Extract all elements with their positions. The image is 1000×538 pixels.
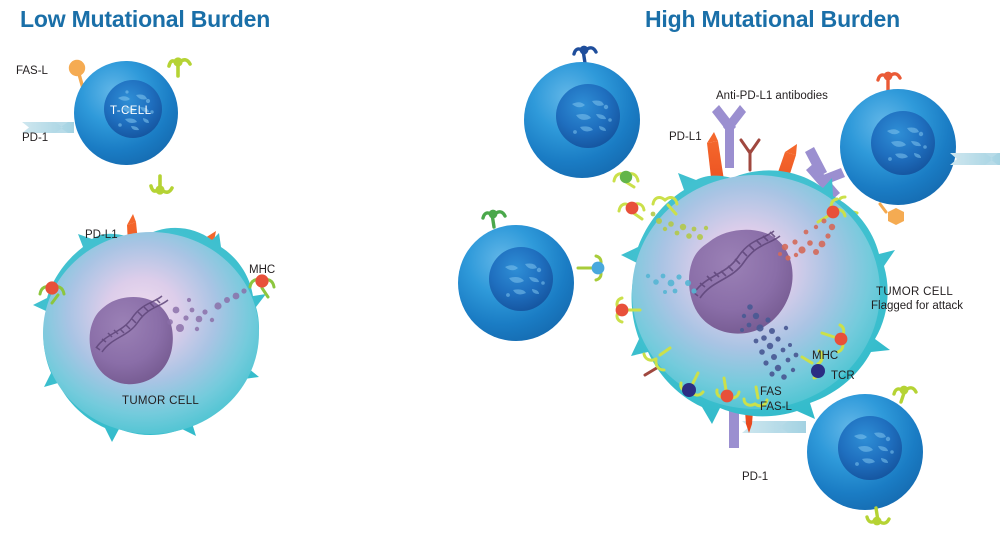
- tcr-icon: [574, 46, 596, 63]
- high-tumor-cell-label: TUMOR CELL: [876, 285, 953, 299]
- fas-l-icon: [880, 204, 904, 225]
- small-antibody-icon: [741, 140, 759, 170]
- low-tumor-cell-label: TUMOR CELL: [122, 394, 199, 408]
- high-t-cell-middle-left: [458, 210, 604, 341]
- high-fas-l-label: FAS-L: [760, 400, 792, 414]
- tcr-icon: [878, 72, 900, 90]
- illustration-layer: [0, 0, 1000, 538]
- diagram-canvas: Low Mutational Burden High Mutational Bu…: [0, 0, 1000, 538]
- low-fas-l-label: FAS-L: [16, 64, 48, 78]
- tcr-icon: [151, 176, 172, 195]
- low-burden-panel-title: Low Mutational Burden: [20, 6, 270, 33]
- tcr-icon: [169, 57, 190, 76]
- tcr-icon: [867, 508, 889, 525]
- high-anti-pd-l1-antibodies-label: Anti-PD-L1 antibodies: [716, 89, 828, 103]
- mhc-icon: [250, 274, 274, 297]
- tcr-icon: [483, 210, 505, 227]
- high-fas-label: FAS: [760, 385, 782, 399]
- high-burden-panel-title: High Mutational Burden: [645, 6, 900, 33]
- low-pd-l1-label: PD-L1: [85, 228, 118, 242]
- mhc-icon: [578, 256, 604, 280]
- low-pd-1-label: PD-1: [22, 131, 48, 145]
- mhc-icon: [614, 171, 638, 187]
- tcr-icon: [894, 386, 916, 402]
- high-pd-l1-label: PD-L1: [669, 130, 702, 144]
- high-pd-1-label: PD-1: [742, 470, 768, 484]
- mhc-icon: [619, 202, 644, 219]
- high-tcr-label: TCR: [831, 369, 855, 383]
- high-t-cell-top-left: [524, 46, 640, 187]
- high-mhc-label: MHC: [812, 349, 838, 363]
- low-mhc-label: MHC: [249, 263, 275, 277]
- high-tumor-cell-flagged-label: Flagged for attack: [871, 299, 963, 313]
- pd-1-icon: [950, 153, 1000, 165]
- low-t-cell-label: T-CELL: [110, 104, 151, 118]
